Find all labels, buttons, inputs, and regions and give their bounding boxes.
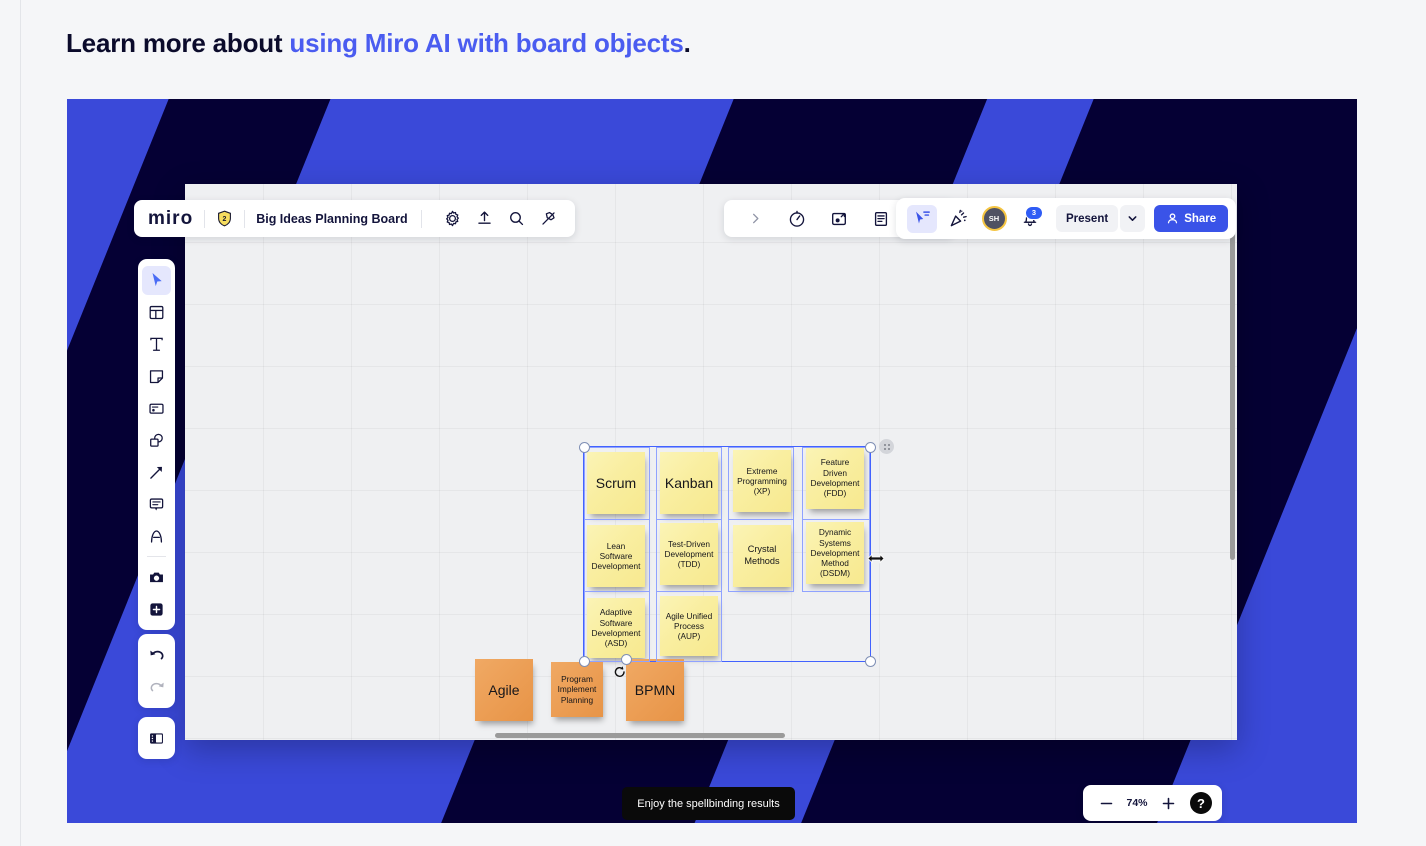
upload-icon[interactable] [473, 207, 497, 231]
present-label: Present [1066, 213, 1108, 225]
history-toolbar [138, 634, 175, 708]
miro-app-window: Scrum Kanban Extreme Programming (XP) Fe… [185, 184, 1237, 740]
sticky-note-tool[interactable] [142, 362, 171, 391]
notification-badge: 3 [1025, 206, 1043, 220]
headline-prefix: Learn more about [66, 28, 289, 58]
avatar-initials: SH [982, 206, 1007, 231]
help-button[interactable]: ? [1190, 792, 1212, 814]
resize-handle-top-left[interactable] [579, 442, 590, 453]
apps-icon[interactable] [537, 207, 561, 231]
text-tool[interactable] [142, 330, 171, 359]
board-header-right: SH 3 Present [896, 198, 1236, 239]
undo-button[interactable] [142, 641, 171, 670]
grip-dots-icon [883, 443, 891, 451]
sticky-note-text: Agile [478, 682, 530, 698]
sticky-note[interactable]: Agile Unified Process (AUP) [660, 596, 718, 656]
hero-panel: Scrum Kanban Extreme Programming (XP) Fe… [67, 99, 1357, 823]
page-background: Learn more about using Miro AI with boar… [0, 0, 1426, 846]
shield-badge-icon[interactable]: 2 [216, 210, 233, 227]
comment-tool[interactable] [142, 490, 171, 519]
sticky-note[interactable]: Kanban [660, 452, 718, 514]
person-icon [1166, 212, 1179, 225]
camera-tool[interactable] [142, 563, 171, 592]
page-headline: Learn more about using Miro AI with boar… [66, 28, 691, 59]
toast-notification: Enjoy the spellbinding results [622, 787, 795, 820]
sticky-note[interactable]: Extreme Programming (XP) [733, 450, 791, 512]
zoom-out-button[interactable] [1093, 790, 1119, 816]
share-label: Share [1184, 213, 1216, 225]
cursor-chat-icon[interactable] [907, 205, 937, 233]
pen-tool[interactable] [142, 522, 171, 551]
sticky-note[interactable]: Feature Driven Development (FDD) [806, 447, 864, 509]
frames-icon[interactable] [827, 207, 851, 231]
resize-handle-bottom-right[interactable] [865, 656, 876, 667]
board-title[interactable]: Big Ideas Planning Board [256, 212, 407, 226]
settings-icon[interactable] [441, 207, 465, 231]
more-apps-tool[interactable] [142, 595, 171, 624]
sticky-note-text: Extreme Programming (XP) [736, 466, 788, 497]
bell-icon: 3 [1021, 210, 1039, 228]
sticky-note-text: Adaptive Software Development (ASD) [590, 607, 642, 648]
timer-icon[interactable] [785, 207, 809, 231]
sticky-note[interactable]: Lean Software Development [587, 525, 645, 587]
drag-grip-icon[interactable] [879, 439, 894, 454]
divider [204, 210, 205, 228]
page-left-rule [20, 0, 21, 846]
sticky-note[interactable]: Test-Driven Development (TDD) [660, 523, 718, 585]
celebrate-icon[interactable] [943, 205, 973, 233]
select-tool[interactable] [142, 266, 171, 295]
rotate-icon [613, 665, 627, 679]
notes-icon[interactable] [869, 207, 893, 231]
chevron-down-icon [1127, 213, 1138, 224]
sticky-note[interactable]: Program Implement Planning [551, 662, 603, 717]
sticky-note[interactable]: Agile [475, 659, 533, 721]
sticky-note[interactable]: Crystal Methods [733, 525, 791, 587]
sticky-note[interactable]: Scrum [587, 452, 645, 514]
toolbar-divider [147, 556, 166, 557]
headline-suffix: . [684, 28, 691, 58]
card-tool[interactable] [142, 394, 171, 423]
present-dropdown-button[interactable] [1120, 205, 1145, 232]
sticky-note[interactable]: Dynamic Systems Development Method (DSDM… [806, 522, 864, 584]
svg-text:2: 2 [223, 216, 227, 223]
resize-cursor-icon [868, 553, 884, 565]
sticky-note-text: Feature Driven Development (FDD) [809, 457, 861, 498]
sticky-note[interactable]: BPMN [626, 659, 684, 721]
sticky-note-handle[interactable] [621, 654, 632, 665]
panel-toolbar [138, 717, 175, 759]
sticky-note-text: BPMN [629, 682, 681, 698]
chevron-right-icon[interactable] [743, 207, 767, 231]
zoom-level-value[interactable]: 74% [1123, 797, 1151, 809]
arrow-tool[interactable] [142, 458, 171, 487]
miro-logo[interactable]: miro [148, 208, 193, 230]
sticky-note-text: Lean Software Development [590, 541, 642, 572]
board-objects-layer: Scrum Kanban Extreme Programming (XP) Fe… [185, 184, 1237, 740]
share-button[interactable]: Share [1154, 205, 1228, 232]
sticky-note-text: Dynamic Systems Development Method (DSDM… [809, 527, 861, 578]
zoom-controls: 74% ? [1083, 785, 1222, 821]
sticky-note-text: Test-Driven Development (TDD) [663, 539, 715, 570]
board-header-left: miro 2 Big Ideas Planning Board [134, 200, 575, 237]
resize-handle-top-right[interactable] [865, 442, 876, 453]
resize-handle-bottom-left[interactable] [579, 656, 590, 667]
present-button[interactable]: Present [1056, 205, 1118, 232]
help-label: ? [1197, 796, 1205, 811]
sticky-note-text: Crystal Methods [736, 544, 788, 568]
zoom-in-button[interactable] [1155, 790, 1181, 816]
sticky-note-text: Scrum [590, 475, 642, 491]
notifications-button[interactable]: 3 [1015, 205, 1045, 233]
headline-link[interactable]: using Miro AI with board objects [289, 28, 683, 58]
toast-text: Enjoy the spellbinding results [637, 798, 779, 810]
divider [421, 210, 422, 228]
templates-tool[interactable] [142, 298, 171, 327]
sticky-note[interactable]: Adaptive Software Development (ASD) [587, 598, 645, 658]
divider [244, 210, 245, 228]
left-toolbar [138, 259, 175, 630]
search-icon[interactable] [505, 207, 529, 231]
sticky-note-text: Program Implement Planning [554, 674, 600, 705]
redo-button[interactable] [142, 673, 171, 702]
shapes-tool[interactable] [142, 426, 171, 455]
sticky-note-text: Agile Unified Process (AUP) [663, 611, 715, 642]
panel-toggle-button[interactable] [142, 724, 171, 753]
sticky-note-text: Kanban [663, 475, 715, 491]
avatar[interactable]: SH [979, 205, 1009, 233]
